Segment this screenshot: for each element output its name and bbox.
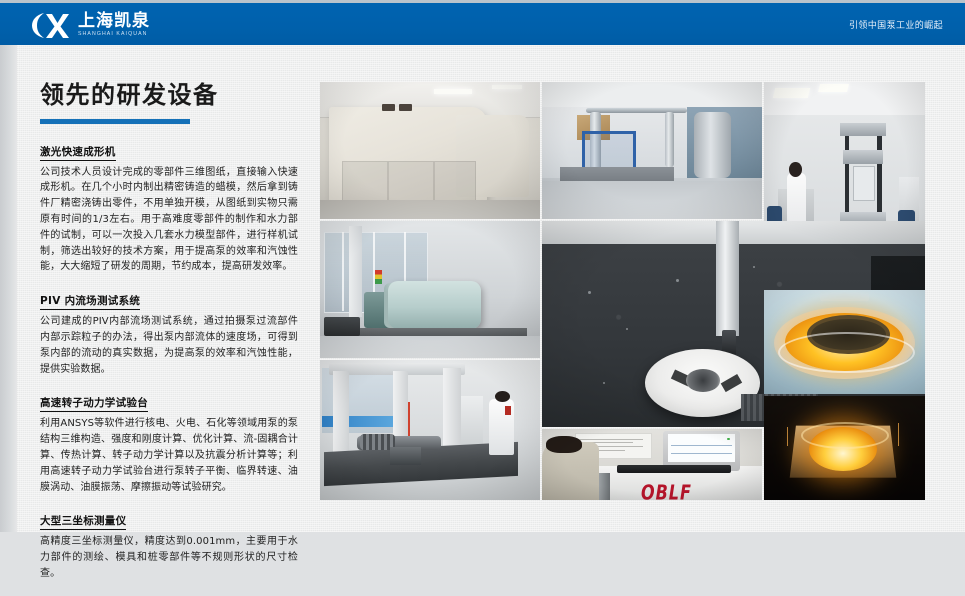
slide-page: 上海凯泉 SHANGHAI KAIQUAN 引领中国泵工业的崛起 领先的研发设备… <box>0 0 965 546</box>
section-heading: 激光快速成形机 <box>40 144 116 161</box>
section-heading: 大型三坐标测量仪 <box>40 513 126 530</box>
photo-glowing-furnace-tray <box>764 290 925 394</box>
title-underline-rule <box>40 119 190 124</box>
brand-logo-text: 上海凯泉 SHANGHAI KAIQUAN <box>78 13 150 37</box>
header-bar: 上海凯泉 SHANGHAI KAIQUAN 引领中国泵工业的崛起 <box>0 3 965 45</box>
brand-name-cn: 上海凯泉 <box>78 13 150 30</box>
photo-grid: OBLF <box>320 82 925 500</box>
section-laser-prototyping: 激光快速成形机 公司技术人员设计完成的零部件三维图纸，直接输入快速成形机。在几个… <box>40 140 298 276</box>
section-body: 公司建成的PIV内部流场测试系统，通过拍摄泵过流部件内部示踪粒子的办法，得出泵内… <box>40 314 298 377</box>
section-body: 公司技术人员设计完成的零部件三维图纸，直接输入快速成形机。在几个小时内制出精密铸… <box>40 165 298 276</box>
section-rotor-dynamics: 高速转子动力学试验台 利用ANSYS等软件进行核电、火电、石化等领域用泵的泵结构… <box>40 391 298 495</box>
photo-spectrometer-oblf: OBLF <box>542 429 762 500</box>
photo-laser-prototyping-machine <box>320 82 540 219</box>
section-piv-flow-test: PIV 内流场测试系统 公司建成的PIV内部流场测试系统，通过拍摄泵过流部件内部… <box>40 289 298 377</box>
brand-name-en: SHANGHAI KAIQUAN <box>78 32 150 37</box>
section-heading: 高速转子动力学试验台 <box>40 395 148 412</box>
left-margin-strip <box>0 45 17 532</box>
section-body: 利用ANSYS等软件进行核电、火电、石化等领域用泵的泵结构三维构造、强度和刚度计… <box>40 416 298 495</box>
text-column: 领先的研发设备 激光快速成形机 公司技术人员设计完成的零部件三维图纸，直接输入快… <box>40 82 298 596</box>
page-title: 领先的研发设备 <box>40 82 298 110</box>
oblf-brand-label: OBLF <box>641 481 692 500</box>
section-body: 高精度三坐标测量仪，精度达到0.001mm，主要用于水力部件的测绘、模具和桩零部… <box>40 534 298 581</box>
kaiquan-k-logo-icon <box>30 11 71 40</box>
photo-rotor-dynamics-bench <box>320 221 540 358</box>
photo-large-cmm-shaft <box>320 360 540 500</box>
photo-piv-test-rig <box>542 82 762 219</box>
photo-glowing-crucible <box>764 396 925 500</box>
header-slogan: 引领中国泵工业的崛起 <box>849 3 943 45</box>
section-heading: PIV 内流场测试系统 <box>40 293 140 310</box>
brand-logo[interactable]: 上海凯泉 SHANGHAI KAIQUAN <box>30 10 150 40</box>
